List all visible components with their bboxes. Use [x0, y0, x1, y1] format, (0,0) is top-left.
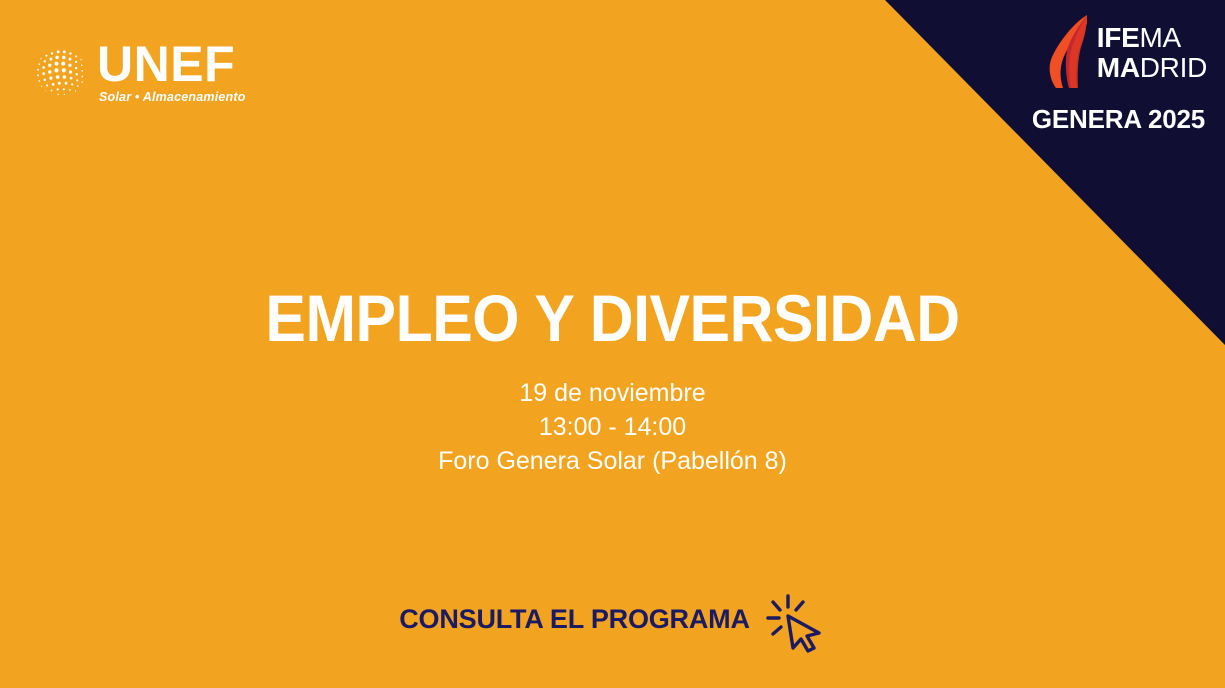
ifema-madrid-block: IFEMA MADRID GENERA 2025 [1007, 14, 1207, 135]
halftone-globe-icon [33, 44, 89, 100]
page-title: EMPLEO Y DIVERSIDAD [49, 282, 1176, 354]
click-cursor-icon [764, 591, 826, 653]
event-date: 19 de noviembre [0, 376, 1225, 410]
unef-wordmark: UNEF Solar • Almacenamiento [97, 40, 246, 104]
madrid-drid: DRID [1140, 52, 1207, 83]
unef-tagline: Solar • Almacenamiento [97, 90, 246, 104]
ifema-ma: MA [1139, 22, 1180, 53]
event-details: 19 de noviembre 13:00 - 14:00 Foro Gener… [0, 376, 1225, 478]
genera-2025-badge: GENERA 2025 [1007, 104, 1207, 135]
madrid-ma: MA [1097, 52, 1140, 83]
unef-logo: UNEF Solar • Almacenamiento [33, 40, 246, 104]
ifema-logo: IFEMA MADRID [1007, 14, 1207, 92]
event-time: 13:00 - 14:00 [0, 410, 1225, 444]
unef-name: UNEF [97, 40, 246, 88]
ifema-ife: IFE [1097, 22, 1140, 53]
cta-label: CONSULTA EL PROGRAMA [399, 604, 750, 635]
ifema-line-one: IFEMA [1097, 23, 1207, 53]
event-promo-poster: UNEF Solar • Almacenamiento IFEMA MADRID… [0, 0, 1225, 688]
consulta-programa-button[interactable]: CONSULTA EL PROGRAMA [0, 585, 1225, 653]
event-location: Foro Genera Solar (Pabellón 8) [0, 444, 1225, 478]
ifema-flame-icon [1047, 14, 1093, 92]
ifema-line-two: MADRID [1097, 53, 1207, 83]
ifema-wordmark: IFEMA MADRID [1097, 23, 1207, 83]
